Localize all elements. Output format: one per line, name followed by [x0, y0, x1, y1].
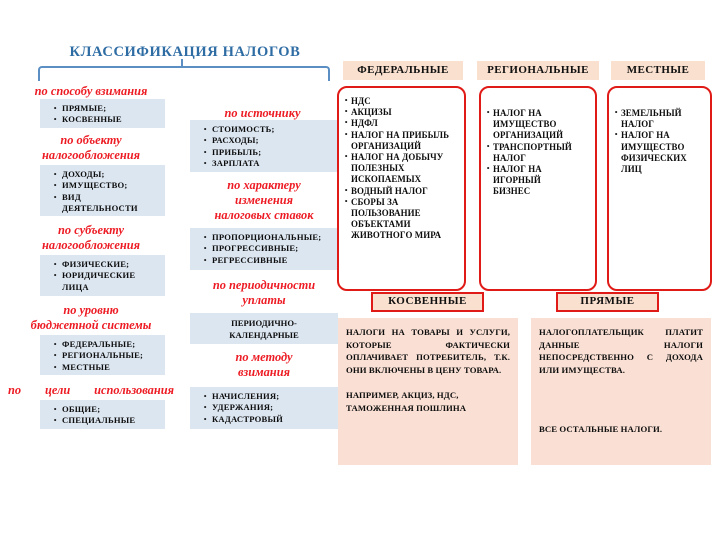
caption-subject-of-taxation: по субъекту налогообложения: [6, 223, 176, 253]
caption-purpose-of-use: по цели использования: [8, 383, 174, 398]
list-box-payment-periodicity: ПЕРИОДИЧНО- КАЛЕНДАРНЫЕ: [190, 313, 338, 344]
list-item: НАЛОГ НА ИГОРНЫЙ БИЗНЕС: [493, 164, 589, 198]
list-item: РАСХОДЫ;: [212, 135, 332, 146]
label-direct-taxes: ПРЯМЫЕ: [556, 292, 659, 312]
caption-collection-method: по методу взимания: [190, 350, 338, 380]
list-box-subject-of-taxation: ФИЗИЧЕСКИЕ; ЮРИДИЧЕСКИЕ ЛИЦА: [40, 255, 165, 296]
list-item: ОБЩИЕ;: [62, 404, 159, 415]
panel-indirect-taxes: НАЛОГИ НА ТОВАРЫ И УСЛУГИ, КОТОРЫЕ ФАКТИ…: [338, 318, 518, 465]
level-box-regional: НАЛОГ НА ИМУЩЕСТВО ОРГАНИЗАЦИЙ ТРАНСПОРТ…: [479, 86, 597, 291]
page-title: КЛАССИФИКАЦИЯ НАЛОГОВ: [30, 44, 340, 61]
diagram-canvas: КЛАССИФИКАЦИЯ НАЛОГОВ по способу взимани…: [0, 0, 720, 540]
list-item: ФИЗИЧЕСКИЕ;: [62, 259, 159, 270]
list-box-budget-system-level: ФЕДЕРАЛЬНЫЕ; РЕГИОНАЛЬНЫЕ; МЕСТНЫЕ: [40, 335, 165, 375]
list-box-object-of-taxation: ДОХОДЫ; ИМУЩЕСТВО; ВИД ДЕЯТЕЛЬНОСТИ: [40, 165, 165, 216]
list-item: ПРОПОРЦИОНАЛЬНЫЕ;: [212, 232, 332, 243]
indirect-example: НАПРИМЕР, АКЦИЗ, НДС, ТАМОЖЕННАЯ ПОШЛИНА: [346, 389, 510, 414]
list-item: КОСВЕННЫЕ: [62, 114, 159, 125]
list-item: ПРИБЫЛЬ;: [212, 147, 332, 158]
list-item: ПРОГРЕССИВНЫЕ;: [212, 243, 332, 254]
list-item: РЕГИОНАЛЬНЫЕ;: [62, 350, 159, 361]
caption-budget-system-level: по уровню бюджетной системы: [2, 303, 180, 333]
list-box-collection-method: НАЧИСЛЕНИЯ; УДЕРЖАНИЯ; КАДАСТРОВЫЙ: [190, 387, 338, 429]
direct-description: НАЛОГОПЛАТЕЛЬЩИК ПЛАТИТ ДАННЫЕ НАЛОГИ НЕ…: [539, 326, 703, 376]
list-item: ДОХОДЫ;: [62, 169, 159, 180]
caption-method-of-collection: по способу взимания: [6, 84, 176, 99]
indirect-description: НАЛОГИ НА ТОВАРЫ И УСЛУГИ, КОТОРЫЕ ФАКТИ…: [346, 326, 510, 376]
list-box-method-of-collection: ПРЯМЫЕ; КОСВЕННЫЕ: [40, 99, 165, 128]
list-item: МЕСТНЫЕ: [62, 362, 159, 373]
level-box-local: ЗЕМЕЛЬНЫЙ НАЛОГ НАЛОГ НА ИМУЩЕСТВО ФИЗИЧ…: [607, 86, 712, 291]
panel-direct-taxes: НАЛОГОПЛАТЕЛЬЩИК ПЛАТИТ ДАННЫЕ НАЛОГИ НЕ…: [531, 318, 711, 465]
direct-example: ВСЕ ОСТАЛЬНЫЕ НАЛОГИ.: [539, 423, 703, 436]
list-item: СБОРЫ ЗА ПОЛЬЗОВАНИЕ ОБЪЕКТАМИ ЖИВОТНОГО…: [351, 197, 458, 242]
list-box-rate-change-character: ПРОПОРЦИОНАЛЬНЫЕ; ПРОГРЕССИВНЫЕ; РЕГРЕСС…: [190, 228, 338, 270]
list-item: НДФЛ: [351, 118, 458, 129]
level-header-federal: ФЕДЕРАЛЬНЫЕ: [343, 61, 463, 80]
list-item: НАЛОГ НА ИМУЩЕСТВО ФИЗИЧЕСКИХ ЛИЦ: [621, 130, 704, 175]
list-item: ТРАНСПОРТНЫЙ НАЛОГ: [493, 142, 589, 164]
list-item: ЗАРПЛАТА: [212, 158, 332, 169]
list-item: СПЕЦИАЛЬНЫЕ: [62, 415, 159, 426]
list-item: НАЛОГ НА ПРИБЫЛЬ ОРГАНИЗАЦИЙ: [351, 130, 458, 152]
list-item: НАЛОГ НА ИМУЩЕСТВО ОРГАНИЗАЦИЙ: [493, 108, 589, 142]
caption-payment-periodicity: по периодичности уплаты: [188, 278, 340, 308]
list-box-purpose-of-use: ОБЩИЕ; СПЕЦИАЛЬНЫЕ: [40, 400, 165, 429]
title-bracket: [38, 66, 330, 81]
list-box-source-of-payment-items: СТОИМОСТЬ; РАСХОДЫ; ПРИБЫЛЬ; ЗАРПЛАТА: [190, 120, 338, 172]
list-item: УДЕРЖАНИЯ;: [212, 402, 332, 413]
list-item: ИМУЩЕСТВО;: [62, 180, 159, 191]
caption-rate-change-character: по характеру изменения налоговых ставок: [190, 178, 338, 223]
list-item: ПРЯМЫЕ;: [62, 103, 159, 114]
list-item: НДС: [351, 96, 458, 107]
list-item: АКЦИЗЫ: [351, 107, 458, 118]
list-item: НАЛОГ НА ДОБЫЧУ ПОЛЕЗНЫХ ИСКОПАЕМЫХ: [351, 152, 458, 186]
list-item: ФЕДЕРАЛЬНЫЕ;: [62, 339, 159, 350]
list-item: ПЕРИОДИЧНО- КАЛЕНДАРНЫЕ: [196, 317, 332, 341]
list-item: ВИД ДЕЯТЕЛЬНОСТИ: [62, 192, 159, 215]
list-item: СТОИМОСТЬ;: [212, 124, 332, 135]
list-item: КАДАСТРОВЫЙ: [212, 414, 332, 425]
label-indirect-taxes: КОСВЕННЫЕ: [371, 292, 484, 312]
level-header-local: МЕСТНЫЕ: [611, 61, 705, 80]
list-item: ЮРИДИЧЕСКИЕ ЛИЦА: [62, 270, 159, 293]
list-item: РЕГРЕССИВНЫЕ: [212, 255, 332, 266]
level-box-federal: НДС АКЦИЗЫ НДФЛ НАЛОГ НА ПРИБЫЛЬ ОРГАНИЗ…: [337, 86, 466, 291]
list-item: ЗЕМЕЛЬНЫЙ НАЛОГ: [621, 108, 704, 130]
level-header-regional: РЕГИОНАЛЬНЫЕ: [477, 61, 599, 80]
list-item: ВОДНЫЙ НАЛОГ: [351, 186, 458, 197]
list-item: НАЧИСЛЕНИЯ;: [212, 391, 332, 402]
caption-object-of-taxation: по объекту налогообложения: [6, 133, 176, 163]
